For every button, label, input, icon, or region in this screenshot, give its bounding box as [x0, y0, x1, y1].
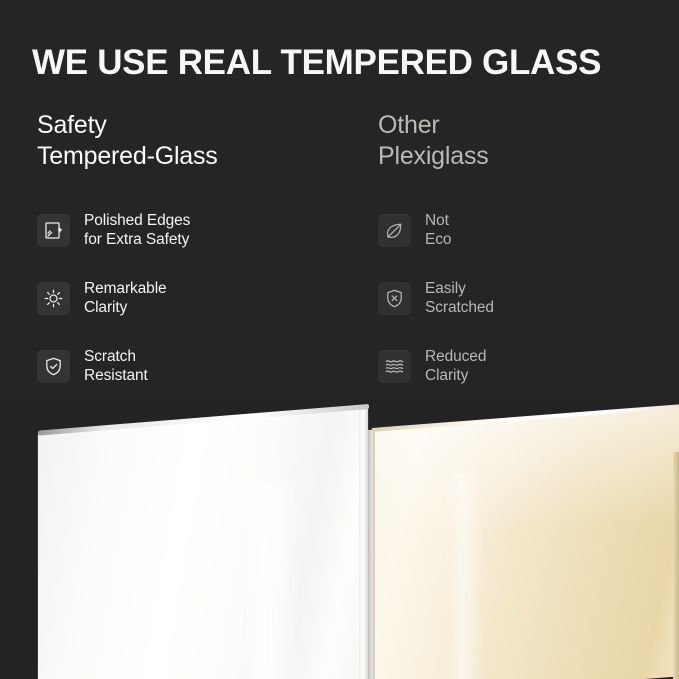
sun-brightness-icon: [37, 282, 70, 315]
column-heading-line2: Tempered-Glass: [37, 141, 339, 172]
column-heading-line2: Plexiglass: [378, 141, 678, 172]
feature-list-plexiglass: Not Eco Easily Scratched: [378, 196, 678, 400]
feature-line1: Scratch: [84, 347, 148, 366]
shield-check-icon: [37, 350, 70, 383]
feature-row-scratch-resistant: Scratch Resistant: [37, 332, 339, 400]
feature-row-polished-edges: Polished Edges for Extra Safety: [37, 196, 339, 264]
feature-label-not-eco: Not Eco: [425, 211, 451, 249]
feature-label-easily-scratched: Easily Scratched: [425, 279, 494, 317]
plexiglass-panel-right-edge: [673, 452, 679, 679]
column-heading-tempered-glass: Safety Tempered-Glass: [37, 104, 339, 172]
feature-line2: Clarity: [84, 298, 167, 317]
tempered-glass-panel: [38, 406, 368, 679]
feature-line1: Not: [425, 211, 451, 230]
product-comparison-photo: [0, 400, 679, 679]
feature-line2: Resistant: [84, 366, 148, 385]
feature-line2: Eco: [425, 230, 451, 249]
feature-line1: Polished Edges: [84, 211, 190, 230]
feature-label-scratch-resistant: Scratch Resistant: [84, 347, 148, 385]
feature-line2: Clarity: [425, 366, 486, 385]
feature-list-tempered-glass: Polished Edges for Extra Safety Remarkab…: [37, 196, 339, 400]
feature-row-remarkable-clarity: Remarkable Clarity: [37, 264, 339, 332]
feature-label-reduced-clarity: Reduced Clarity: [425, 347, 486, 385]
feature-line2: Scratched: [425, 298, 494, 317]
feature-line2: for Extra Safety: [84, 230, 190, 249]
wavy-lines-icon: [378, 350, 411, 383]
column-heading-line1: Other: [378, 110, 678, 141]
feature-row-reduced-clarity: Reduced Clarity: [378, 332, 678, 400]
feature-label-polished-edges: Polished Edges for Extra Safety: [84, 211, 190, 249]
column-tempered-glass: Safety Tempered-Glass Polished Edges fo: [0, 104, 339, 404]
leaf-crossed-out-icon: [378, 214, 411, 247]
page-title: WE USE REAL TEMPERED GLASS: [32, 41, 601, 85]
feature-line1: Reduced: [425, 347, 486, 366]
feature-row-easily-scratched: Easily Scratched: [378, 264, 678, 332]
column-heading-plexiglass: Other Plexiglass: [378, 104, 678, 172]
plexiglass-panel: [372, 406, 679, 679]
polished-edge-sparkle-icon: [37, 214, 70, 247]
feature-row-not-eco: Not Eco: [378, 196, 678, 264]
plexiglass-panel-left-edge: [368, 429, 375, 679]
column-plexiglass: Other Plexiglass Not Eco: [339, 104, 678, 404]
comparison-columns: Safety Tempered-Glass Polished Edges fo: [0, 104, 679, 404]
shield-x-icon: [378, 282, 411, 315]
column-heading-line1: Safety: [37, 110, 339, 141]
feature-label-remarkable-clarity: Remarkable Clarity: [84, 279, 167, 317]
comparison-infographic: WE USE REAL TEMPERED GLASS Safety Temper…: [0, 0, 679, 679]
feature-line1: Remarkable: [84, 279, 167, 298]
feature-line1: Easily: [425, 279, 494, 298]
